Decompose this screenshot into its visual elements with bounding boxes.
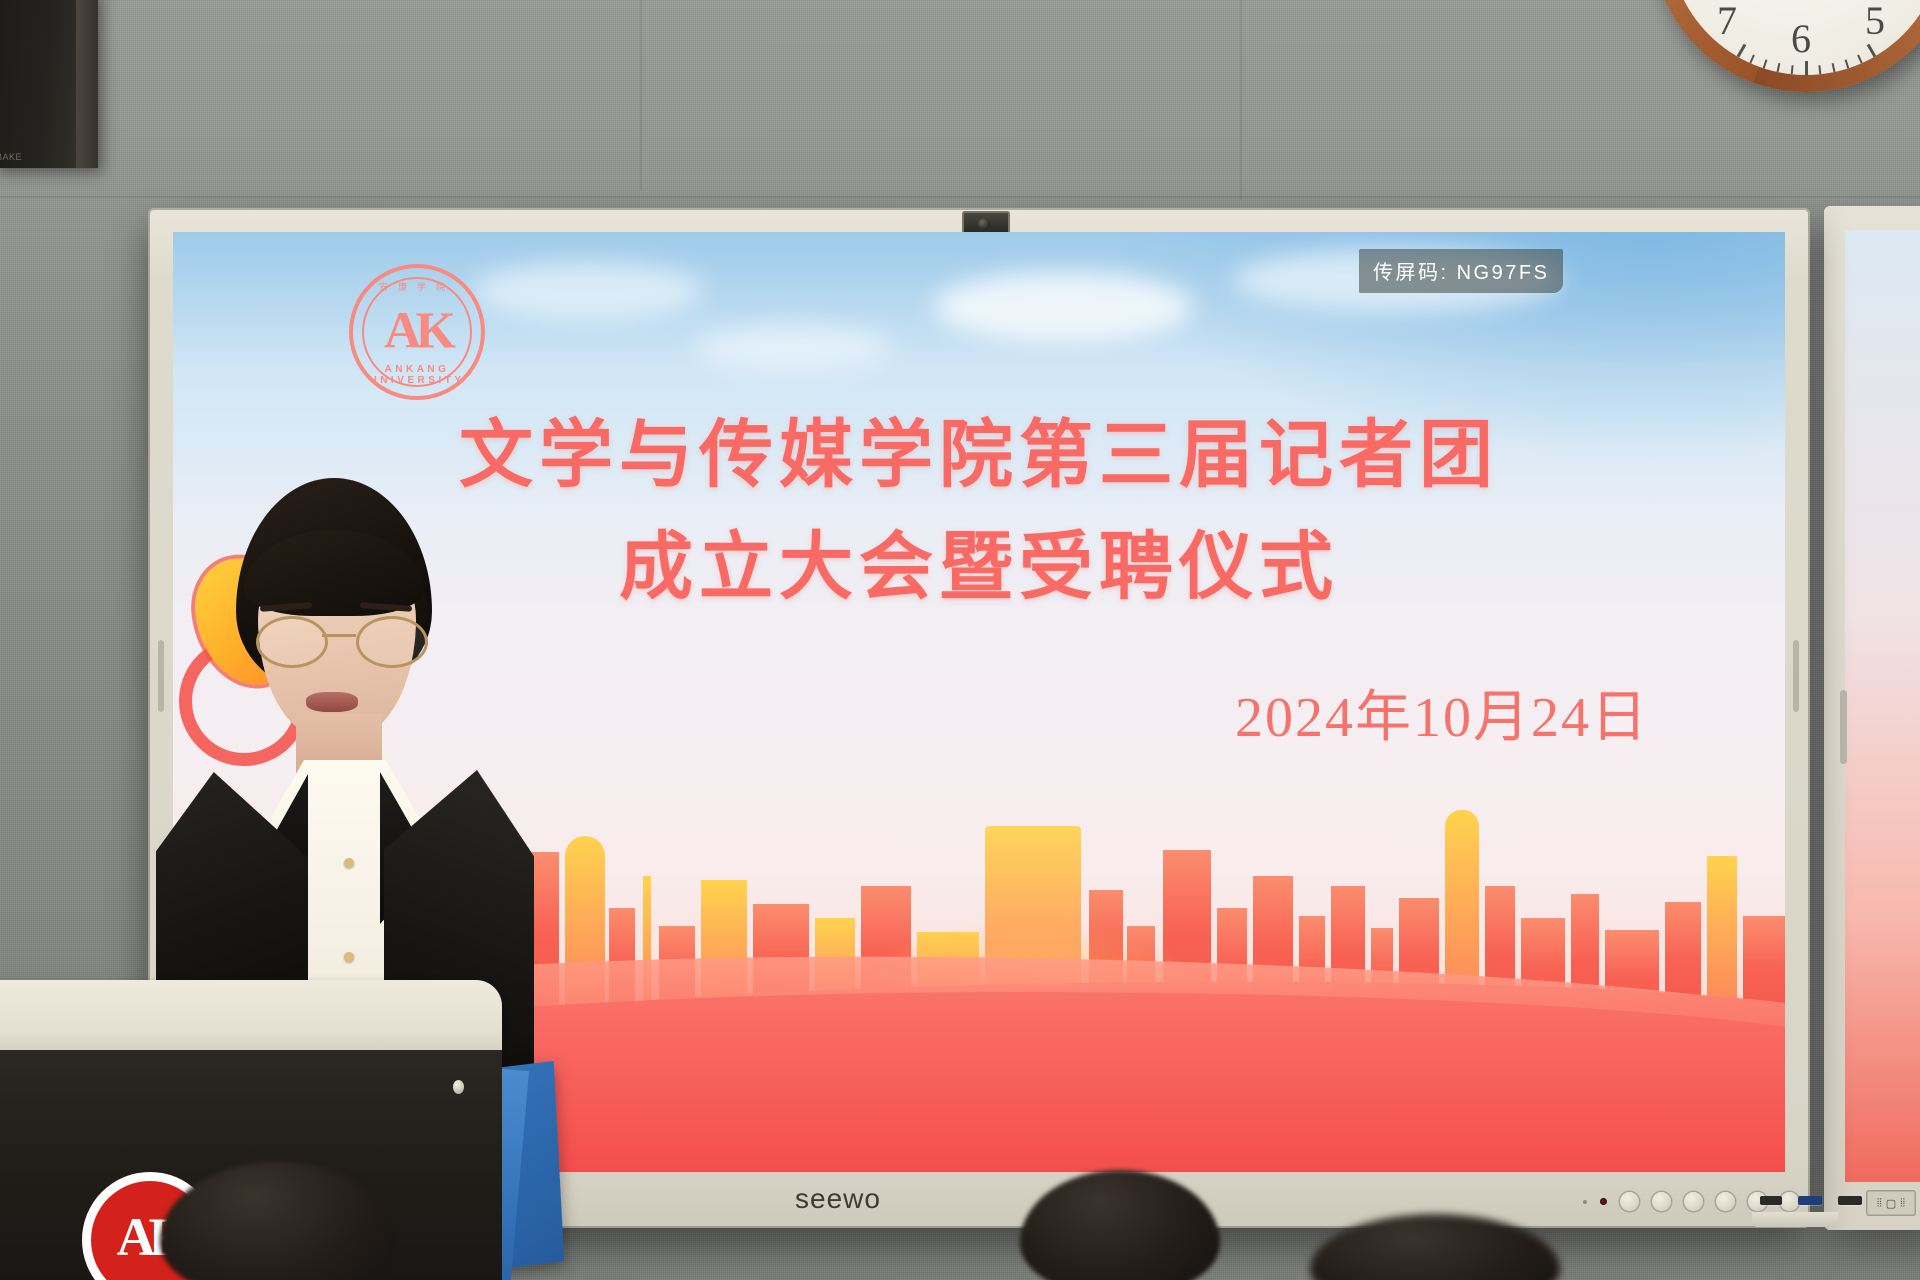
ceiling-speaker: BAKE — [0, 0, 98, 168]
cloud-shape — [473, 262, 703, 320]
university-emblem: 安康学院 AK ANKANG UNIVERSITY — [349, 264, 485, 400]
wall-panel-seam — [640, 0, 642, 190]
indicator-dot-icon — [1583, 1200, 1587, 1204]
speaker-brand-label: BAKE — [0, 152, 22, 162]
port-tray — [1752, 1212, 1838, 1227]
screen-icon: ▢ — [1886, 1197, 1896, 1210]
clock-numeral-7: 7 — [1717, 0, 1737, 44]
slide-date: 2024年10月24日 — [1235, 672, 1649, 753]
lectern-top-surface — [0, 980, 502, 1052]
panel-port-row[interactable] — [1760, 1196, 1862, 1205]
speaker-left-icon: ⦙⦙ — [1877, 1197, 1882, 1210]
lens-right — [356, 616, 428, 668]
cloud-shape — [933, 272, 1193, 342]
screen-cast-code-badge[interactable]: 传屏码: NG97FS — [1359, 249, 1563, 293]
back-button[interactable] — [1684, 1192, 1703, 1211]
wall-panel-seam — [1240, 0, 1242, 200]
menu-button[interactable] — [1716, 1192, 1735, 1211]
usb-2-port-icon[interactable] — [1838, 1196, 1862, 1205]
usb-3-port-icon[interactable] — [1798, 1196, 1822, 1205]
panel-side-handle-right[interactable] — [1793, 640, 1799, 712]
power-button[interactable] — [1620, 1192, 1639, 1211]
clock-numeral-5: 5 — [1865, 0, 1885, 44]
cloud-shape — [693, 324, 893, 370]
screenshot-root: BAKE 7 6 5 — [0, 0, 1920, 1280]
camera-lens-icon — [978, 218, 990, 230]
speaker-side-panel — [76, 0, 98, 168]
glasses-bridge — [322, 634, 356, 637]
power-led-icon — [1600, 1198, 1607, 1205]
usb-type-c-port-icon[interactable] — [1760, 1196, 1782, 1205]
emblem-chinese-name: 安康学院 — [353, 280, 481, 293]
emblem-monogram: AK — [384, 301, 450, 360]
mouth — [306, 692, 358, 712]
lectern-knob — [453, 1080, 464, 1094]
shirt-button — [344, 858, 354, 868]
emblem-english-name: ANKANG UNIVERSITY — [353, 364, 481, 386]
shirt-button — [344, 952, 354, 962]
speaker-right-icon: ⦙⦙ — [1900, 1197, 1905, 1210]
display-brand-logo: seewo — [795, 1183, 881, 1215]
secondary-display-screen — [1845, 230, 1920, 1182]
side-control-panel[interactable]: ⦙⦙ ▢ ⦙⦙ — [1866, 1190, 1916, 1216]
clock-numeral-6: 6 — [1791, 15, 1811, 62]
lens-left — [256, 616, 328, 668]
eyeglasses-icon — [256, 616, 424, 662]
wall-panel-seam — [0, 196, 1920, 198]
home-button[interactable] — [1652, 1192, 1671, 1211]
secondary-display-side-strip — [1840, 690, 1847, 764]
